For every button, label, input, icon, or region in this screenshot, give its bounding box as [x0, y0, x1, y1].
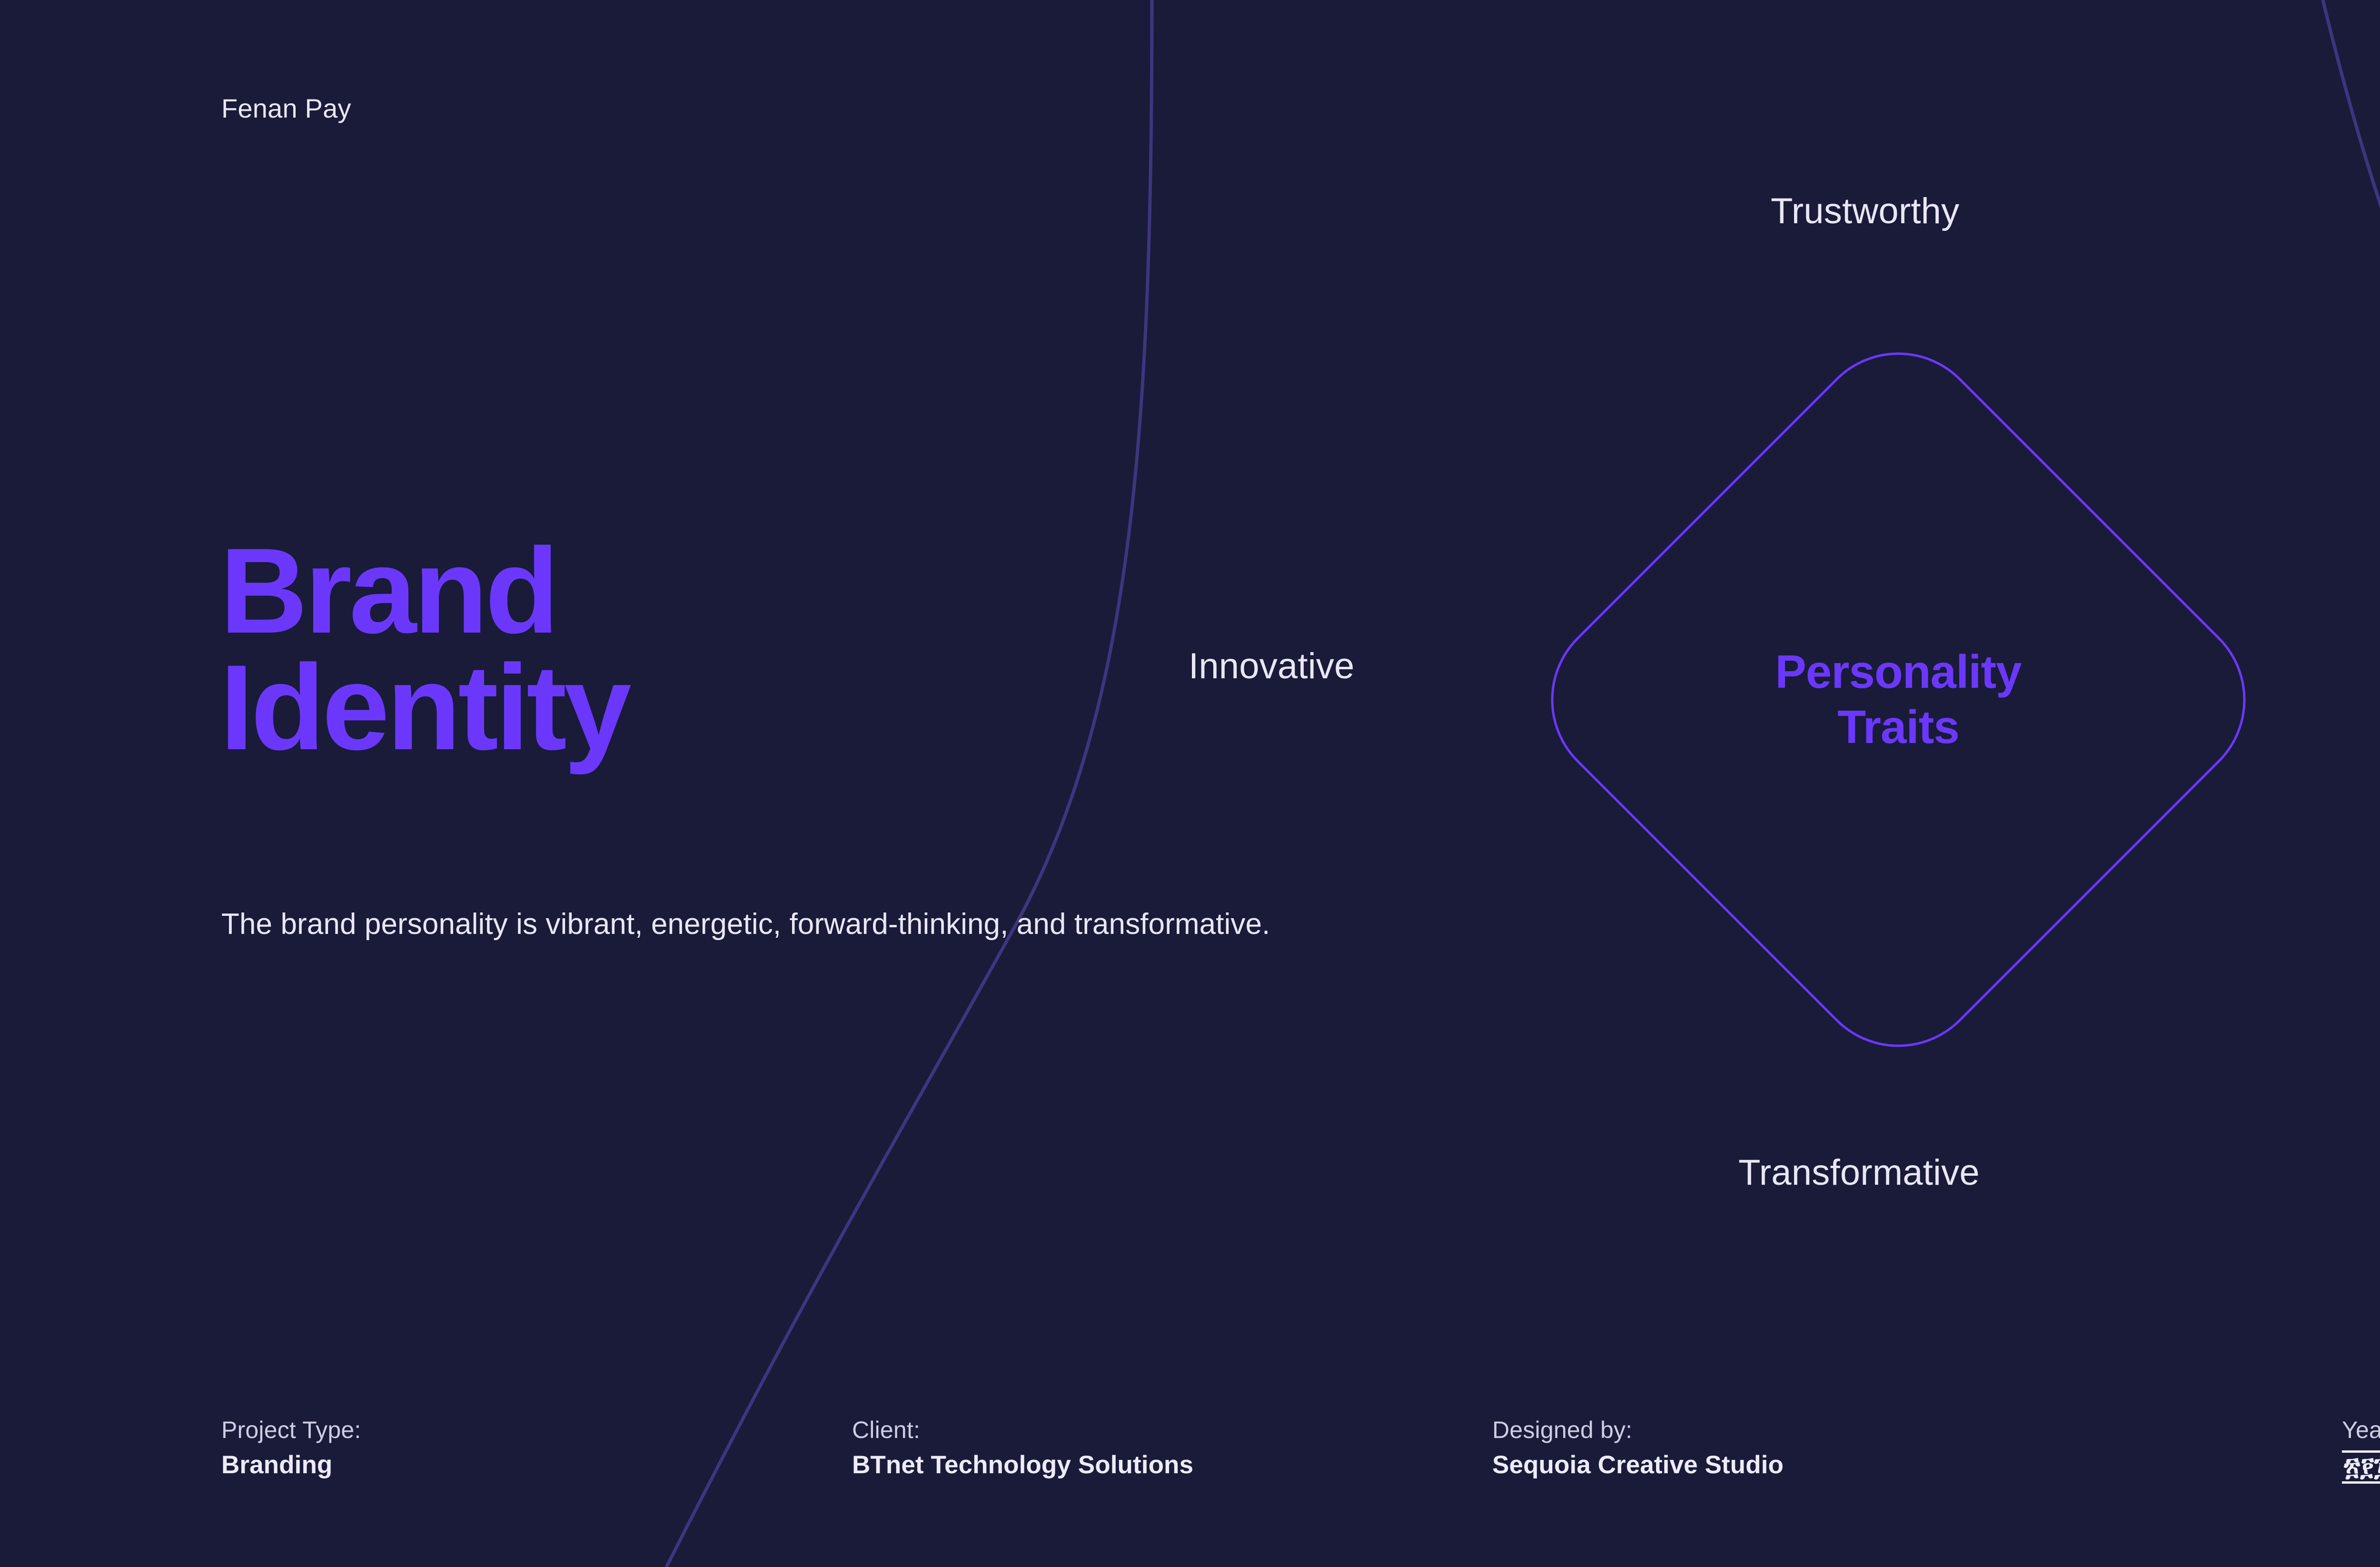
page-title-line-2: Identity	[220, 650, 629, 766]
decor-curve-left	[666, 0, 1152, 1567]
personality-traits-diagram: Personality Traits	[1517, 314, 2279, 1085]
meta-project-type-label: Project Type:	[221, 1416, 361, 1444]
meta-client-label: Client:	[852, 1416, 1193, 1444]
page-title-line-1: Brand	[220, 523, 556, 659]
trait-label-innovative: Innovative	[1189, 645, 1354, 687]
meta-client: Client: BTnet Technology Solutions	[852, 1416, 1193, 1479]
meta-project-type: Project Type: Branding	[221, 1416, 361, 1479]
meta-year-label: Year:	[2342, 1416, 2380, 1444]
meta-year-geez: ፳፻፲፮	[2342, 1450, 2380, 1484]
trait-label-trustworthy: Trustworthy	[1771, 190, 1959, 232]
meta-year-value: ፳፻፲፮ | 2024	[2342, 1450, 2380, 1484]
trait-label-transformative: Transformative	[1738, 1152, 1980, 1193]
meta-year: Year: ፳፻፲፮ | 2024	[2342, 1416, 2380, 1484]
footer-meta: Project Type: Branding Client: BTnet Tec…	[0, 1416, 2380, 1483]
meta-designed-by: Designed by: Sequoia Creative Studio	[1492, 1416, 1784, 1479]
diamond-center-line-1: Personality	[1775, 645, 2021, 700]
brand-logo: Fenan Pay	[221, 93, 351, 124]
hero-description: The brand personality is vibrant, energe…	[221, 902, 1270, 946]
meta-designed-by-label: Designed by:	[1492, 1416, 1784, 1444]
meta-designed-by-value: Sequoia Creative Studio	[1492, 1450, 1784, 1479]
diamond-center-label: Personality Traits	[1517, 314, 2279, 1085]
decor-curve-right	[2323, 0, 2380, 721]
meta-client-value: BTnet Technology Solutions	[852, 1450, 1193, 1479]
diamond-center-line-2: Traits	[1837, 700, 1959, 755]
page-title: Brand Identity	[220, 533, 629, 766]
meta-project-type-value: Branding	[221, 1450, 361, 1479]
